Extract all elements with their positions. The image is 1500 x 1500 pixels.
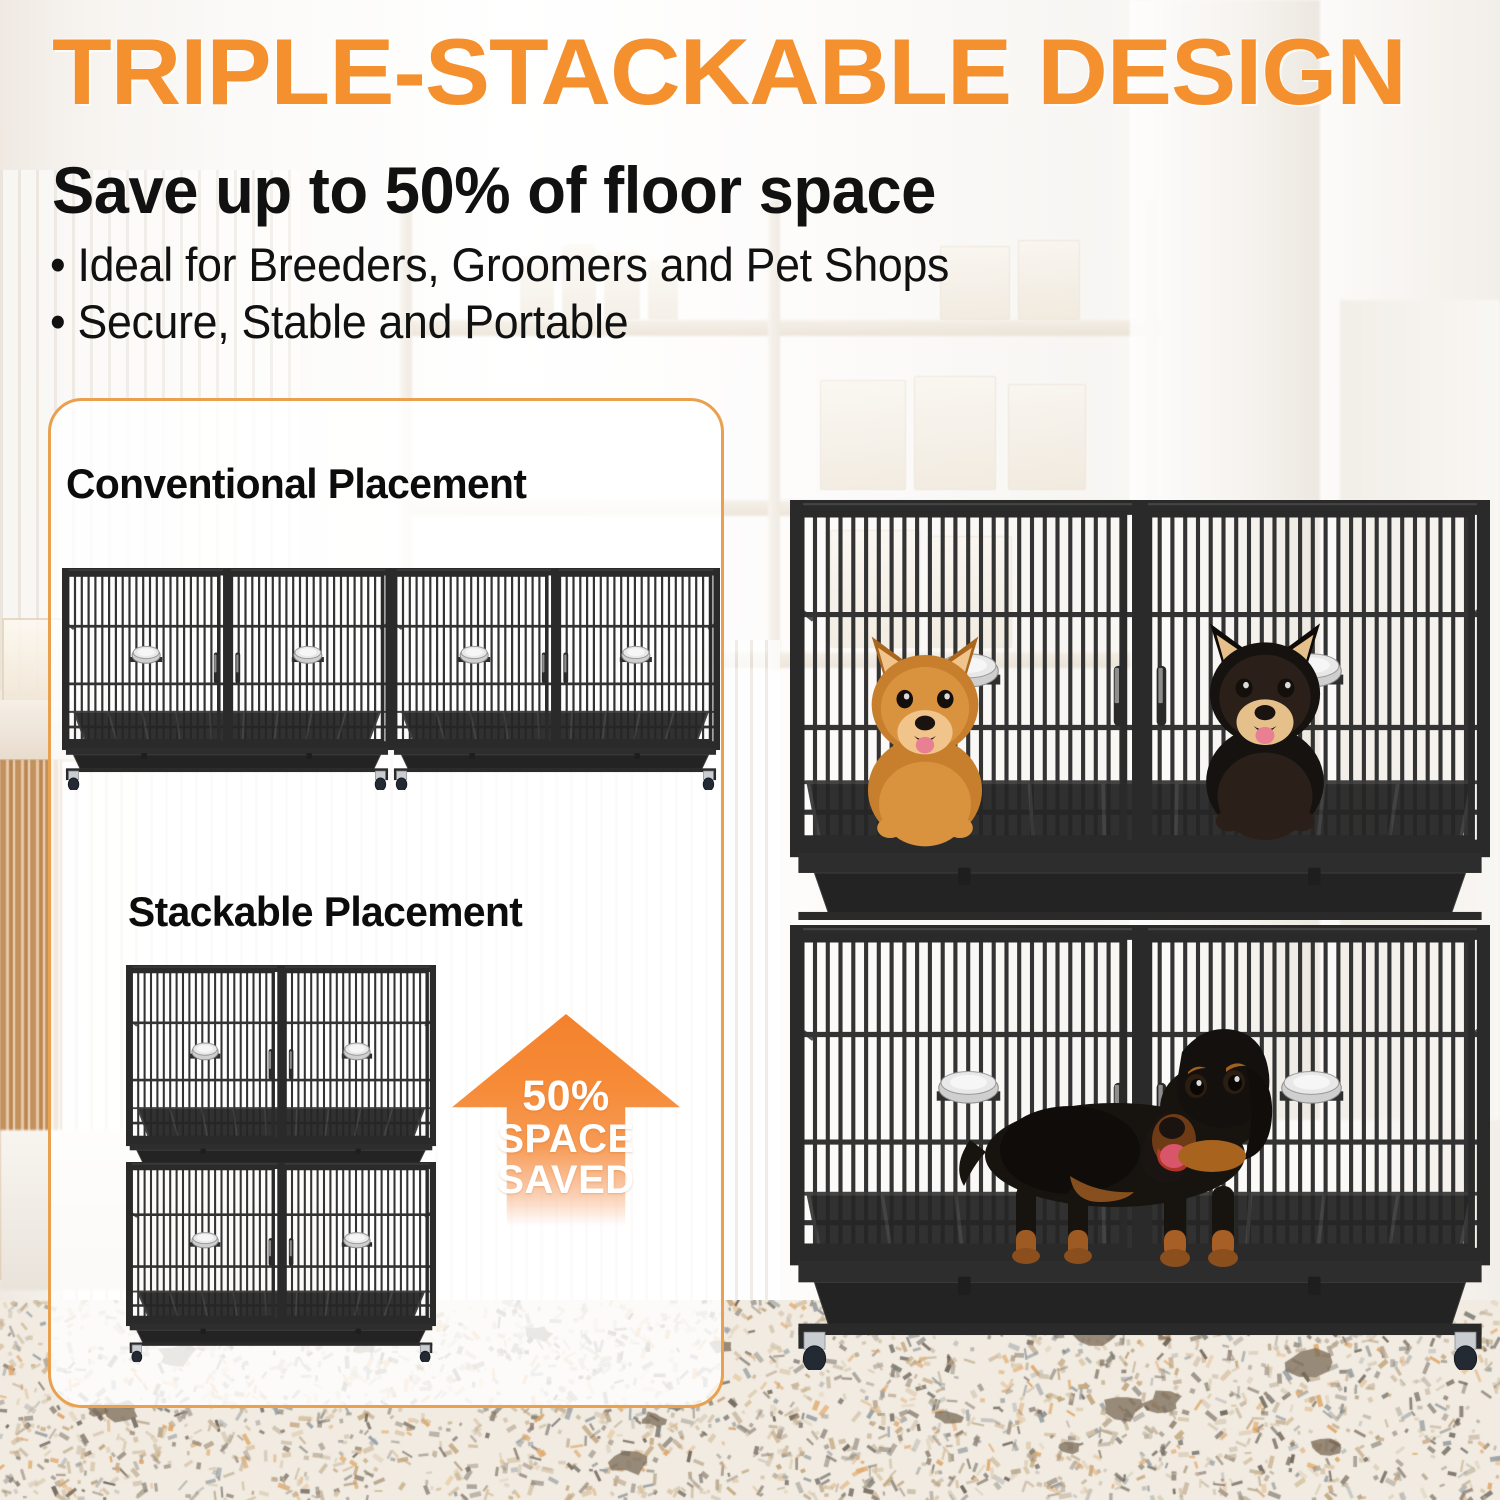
page-title: TRIPLE-STACKABLE DESIGN	[52, 26, 1500, 118]
space-saved-badge: 50% SPACE SAVED	[452, 1014, 680, 1226]
conventional-crate-right	[390, 568, 720, 790]
dog-dachshund	[950, 990, 1310, 1290]
stackable-placement-label: Stackable Placement	[128, 888, 522, 936]
space-saved-text: 50% SPACE SAVED	[452, 1074, 680, 1202]
dog-pomeranian-black-tan	[1170, 600, 1360, 850]
badge-saved: SAVED	[452, 1160, 680, 1202]
dog-pomeranian-tan	[830, 620, 1020, 850]
conventional-placement-label: Conventional Placement	[66, 460, 526, 508]
badge-percent: 50%	[452, 1074, 680, 1119]
stacked-crate-upper	[126, 965, 436, 1165]
badge-space: SPACE	[452, 1119, 680, 1161]
feature-bullet-list: • Ideal for Breeders, Groomers and Pet S…	[50, 236, 996, 351]
feature-bullet: • Secure, Stable and Portable	[50, 293, 949, 350]
feature-bullet: • Ideal for Breeders, Groomers and Pet S…	[50, 236, 949, 293]
page-subtitle: Save up to 50% of floor space	[52, 152, 936, 228]
stacked-crate-lower	[126, 1162, 436, 1362]
conventional-crate-left	[62, 568, 392, 790]
